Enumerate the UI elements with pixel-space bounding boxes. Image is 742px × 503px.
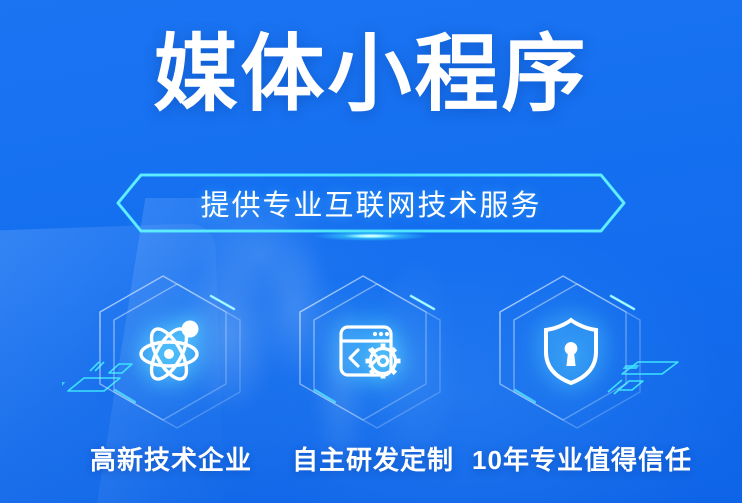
atom-icon <box>134 314 208 388</box>
feature-list <box>0 272 742 432</box>
subtitle-band: 提供专业互联网技术服务 <box>0 172 742 234</box>
promo-banner: 媒体小程序 <box>0 0 742 503</box>
code-window-gear-icon <box>334 314 408 388</box>
page-title: 媒体小程序 <box>0 27 742 121</box>
feature-item-2[interactable] <box>493 272 649 430</box>
shield-keyhole-icon <box>534 314 608 388</box>
feature-item-1[interactable] <box>293 272 449 430</box>
feature-caption-2: 10年专业值得信任 <box>452 440 712 477</box>
caption-row: 高新技术企业 自主研发定制 10年专业值得信任 <box>0 440 742 480</box>
feature-item-0[interactable] <box>93 272 249 430</box>
feature-caption-0: 高新技术企业 <box>56 440 286 477</box>
subtitle-text: 提供专业互联网技术服务 <box>115 172 627 234</box>
